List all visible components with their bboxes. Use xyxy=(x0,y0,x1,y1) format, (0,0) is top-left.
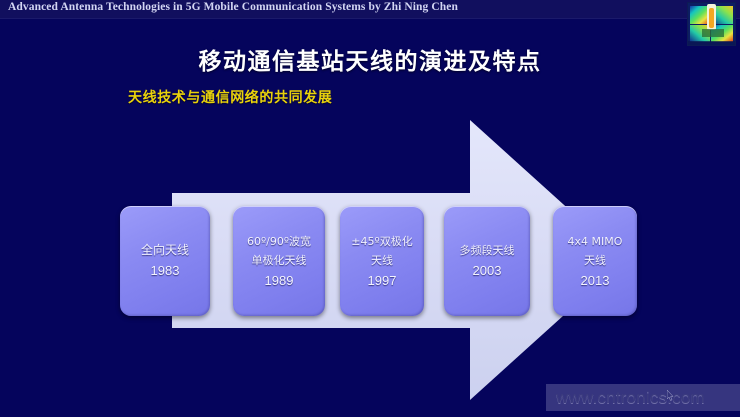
timeline-step-label: 多频段天线 xyxy=(460,241,515,260)
timeline-step-label: 全向天线 xyxy=(141,241,189,260)
timeline-step-year: 1989 xyxy=(265,270,294,291)
timeline-step-year: 2003 xyxy=(473,260,502,281)
timeline-step-label: ±45º双极化 xyxy=(351,232,412,251)
presentation-title: Advanced Antenna Technologies in 5G Mobi… xyxy=(8,1,458,13)
timeline-step-year: 1983 xyxy=(151,260,180,281)
page-title: 移动通信基站天线的演进及特点 xyxy=(0,42,740,76)
mouse-cursor-icon xyxy=(667,388,674,398)
timeline-step-label: 单极化天线 xyxy=(252,251,307,270)
timeline-step-3[interactable]: 多频段天线 2003 xyxy=(444,206,530,316)
timeline-step-4[interactable]: 4x4 MIMO 天线 2013 xyxy=(553,206,637,316)
timeline-step-label: 天线 xyxy=(584,251,606,270)
slide-canvas: Advanced Antenna Technologies in 5G Mobi… xyxy=(0,0,740,417)
timeline-step-0[interactable]: 全向天线 1983 xyxy=(120,206,210,316)
timeline-step-2[interactable]: ±45º双极化 天线 1997 xyxy=(340,206,424,316)
timeline-step-label: 4x4 MIMO xyxy=(568,232,623,251)
watermark-text: www.cntronics.com xyxy=(556,388,705,408)
timeline-step-1[interactable]: 60º/90º波宽 单极化天线 1989 xyxy=(233,206,325,316)
timeline-step-year: 1997 xyxy=(368,270,397,291)
timeline-step-year: 2013 xyxy=(581,270,610,291)
timeline-step-label: 天线 xyxy=(371,251,393,270)
timeline-step-label: 60º/90º波宽 xyxy=(247,232,311,251)
page-subtitle: 天线技术与通信网络的共同发展 xyxy=(128,87,332,107)
em-simulation-thumbnail-icon xyxy=(687,2,736,46)
